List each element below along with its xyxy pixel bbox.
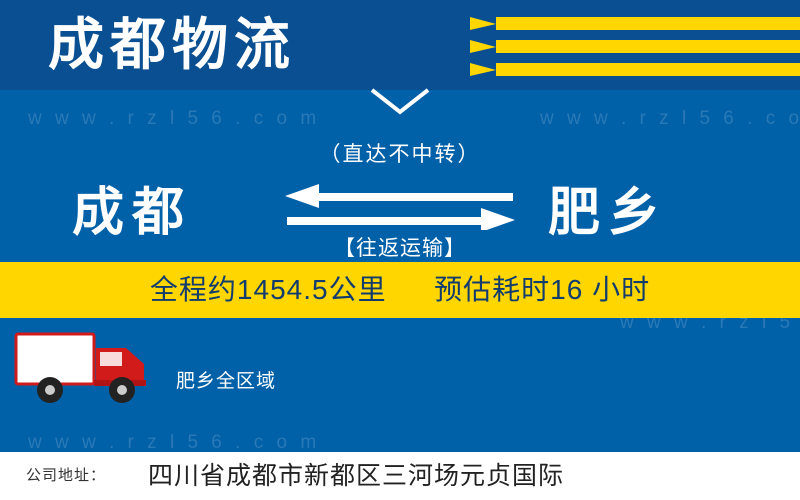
origin-city: 成都 — [72, 170, 192, 245]
route-note-bottom: 【往返运输】 — [270, 232, 530, 262]
route-note-top: （直达不中转） — [270, 138, 530, 168]
stripe-2 — [470, 40, 800, 53]
page-title: 成都物流 — [48, 8, 296, 82]
watermark: w w w . r z l 5 6 . c o m — [540, 108, 800, 130]
double-arrow-icon — [270, 182, 530, 230]
distance-text: 全程约1454.5公里 — [150, 274, 387, 305]
delivery-area-text: 肥乡全区域 — [176, 366, 276, 393]
route-middle: （直达不中转） 【往返运输】 — [270, 138, 530, 262]
stripe-decoration — [470, 0, 800, 90]
address-value: 四川省成都市新都区三河场元贞国际 — [148, 452, 564, 500]
watermark: w w w . r z l 5 6 . c o m — [28, 108, 320, 130]
stripe-1 — [470, 17, 800, 30]
destination-city: 肥乡 — [548, 170, 668, 245]
address-label: 公司地址： — [26, 452, 106, 500]
chevron-down-icon — [370, 88, 430, 116]
logistics-banner: 成都物流 w w w . r z l 5 6 . c o m w w w . r… — [0, 0, 800, 500]
stripe-3 — [470, 63, 800, 76]
delivery-badge-line1: 配 送 — [22, 337, 78, 359]
watermark: w w w . r z l 5 6 . c o m — [28, 432, 320, 454]
delivery-badge: 配 送 区 域 — [22, 337, 78, 381]
delivery-badge-line2: 区 域 — [22, 359, 78, 381]
info-text: 全程约1454.5公里 预估耗时16 小时 — [0, 262, 800, 318]
duration-text: 预估耗时16 小时 — [434, 274, 650, 305]
